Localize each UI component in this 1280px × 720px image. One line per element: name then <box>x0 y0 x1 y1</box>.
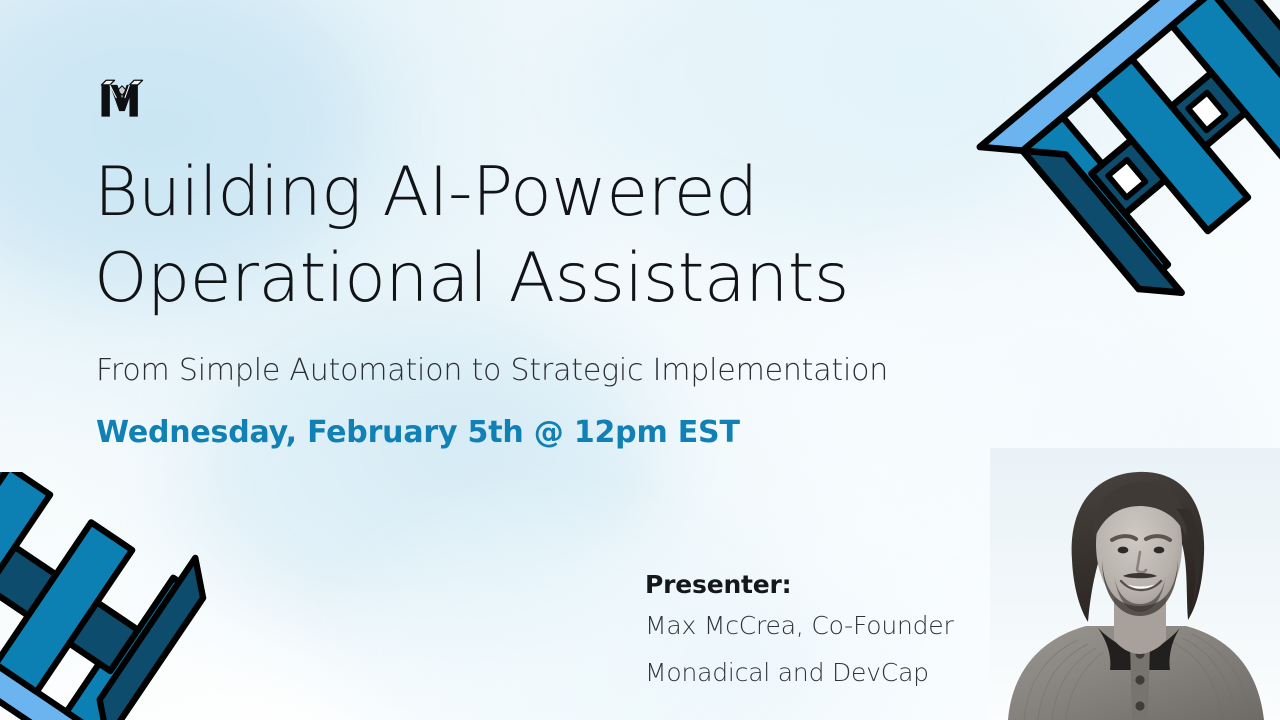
headline-block: Building AI-Powered Operational Assistan… <box>94 150 974 451</box>
presenter-block: Presenter: Max McCrea, Co-Founder Monadi… <box>645 572 1025 691</box>
presenter-label: Presenter: <box>645 572 1025 597</box>
corner-logo-bottom-left <box>0 472 238 720</box>
corner-logo-top-right <box>936 0 1280 316</box>
avatar <box>990 448 1280 720</box>
monadical-m-3d-isometric-icon <box>936 0 1280 316</box>
monadical-m-logo-icon <box>94 70 150 126</box>
event-datetime: Wednesday, February 5th @ 12pm EST <box>96 415 974 451</box>
page-subtitle: From Simple Automation to Strategic Impl… <box>96 353 974 389</box>
brand-logo[interactable] <box>94 70 150 126</box>
monadical-m-3d-isometric-icon <box>0 472 238 720</box>
presenter-photo <box>990 448 1280 720</box>
presenter-organizations: Monadical and DevCap <box>645 654 1025 691</box>
webinar-title-slide: Building AI-Powered Operational Assistan… <box>0 0 1280 720</box>
page-title: Building AI-Powered Operational Assistan… <box>94 150 974 321</box>
presenter-name-role: Max McCrea, Co-Founder <box>645 607 1025 644</box>
